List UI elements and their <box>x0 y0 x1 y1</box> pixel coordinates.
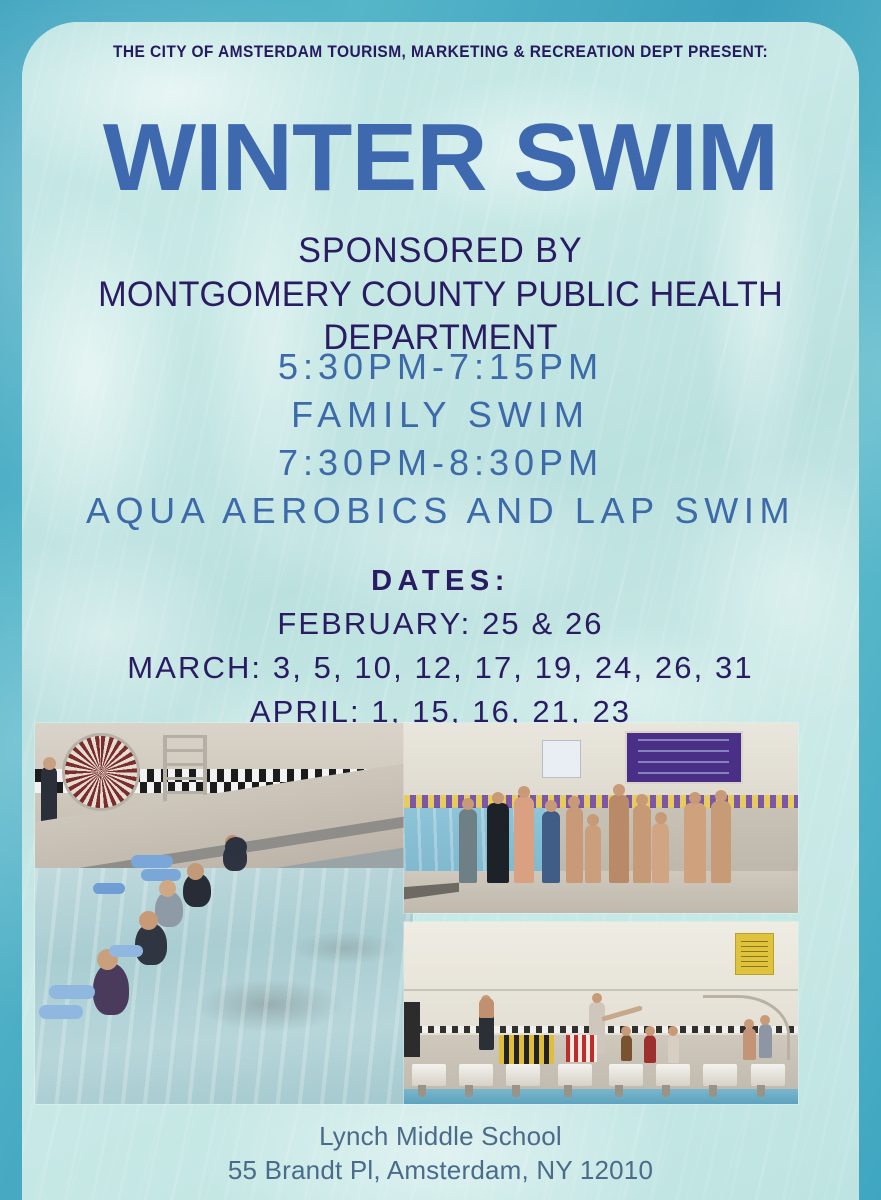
photo-aqua-aerobics-class <box>35 723 413 1104</box>
photo-collage <box>0 0 837 1178</box>
venue-name: Lynch Middle School <box>0 1120 881 1154</box>
venue-footer: Lynch Middle School 55 Brandt Pl, Amster… <box>0 1120 881 1188</box>
winter-swim-poster: THE CITY OF AMSTERDAM TOURISM, MARKETING… <box>0 0 881 1200</box>
venue-address: 55 Brandt Pl, Amsterdam, NY 12010 <box>0 1154 881 1188</box>
photo-kids-group-poolside <box>404 723 798 913</box>
photo-diving-blocks-poolside <box>404 922 798 1104</box>
